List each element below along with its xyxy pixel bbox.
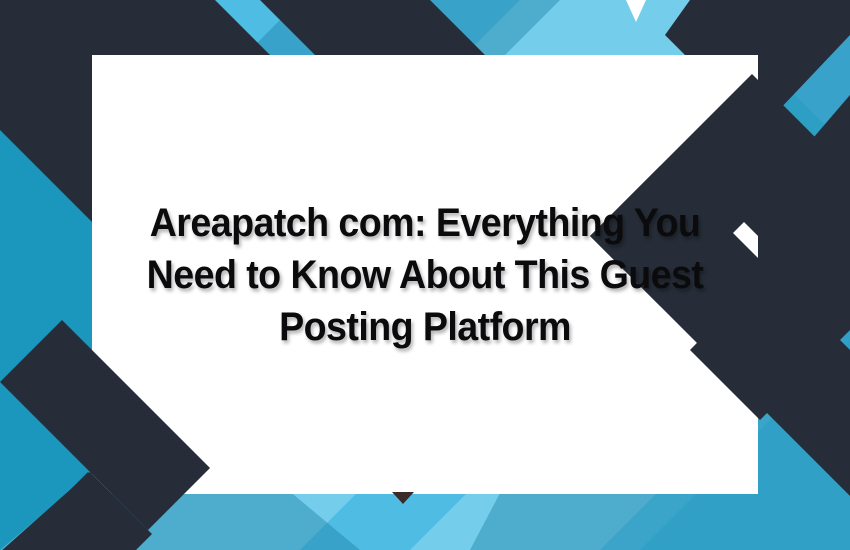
title-card-stage: Areapatch com: Everything You Need to Kn… <box>0 0 850 550</box>
page-title: Areapatch com: Everything You Need to Kn… <box>143 197 707 353</box>
headline-container: Areapatch com: Everything You Need to Kn… <box>92 55 758 494</box>
